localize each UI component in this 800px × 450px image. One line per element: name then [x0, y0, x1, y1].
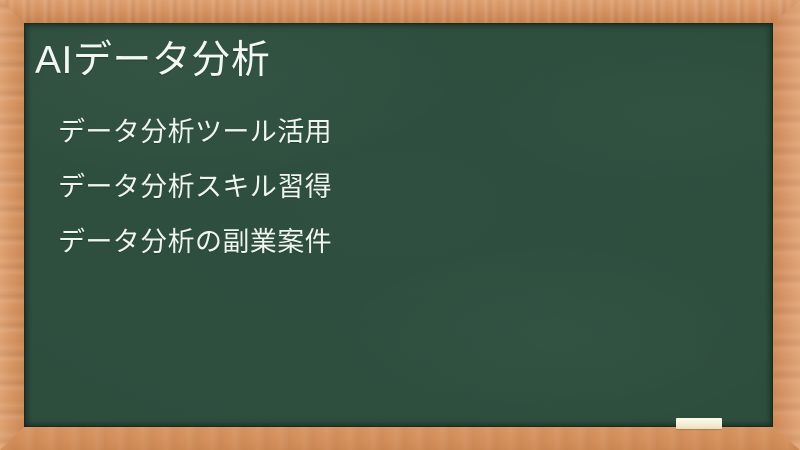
bullet-item-1: データ分析ツール活用 — [58, 105, 748, 160]
chalk-stick-icon — [676, 418, 722, 429]
frame-bottom-plank — [0, 427, 800, 450]
slide-title: AIデータ分析 — [35, 35, 270, 86]
bullet-item-3: データ分析の副業案件 — [58, 215, 748, 270]
frame-top-plank — [0, 0, 800, 23]
frame-right-plank — [773, 0, 800, 450]
blackboard-surface: AIデータ分析 データ分析ツール活用 データ分析スキル習得 データ分析の副業案件 — [24, 23, 773, 427]
frame-left-plank — [0, 0, 24, 450]
board-content: AIデータ分析 データ分析ツール活用 データ分析スキル習得 データ分析の副業案件 — [24, 23, 773, 427]
bullet-list: データ分析ツール活用 データ分析スキル習得 データ分析の副業案件 — [58, 105, 748, 270]
bullet-item-2: データ分析スキル習得 — [58, 160, 748, 215]
chalkboard-slide: AIデータ分析 データ分析ツール活用 データ分析スキル習得 データ分析の副業案件 — [0, 0, 800, 450]
